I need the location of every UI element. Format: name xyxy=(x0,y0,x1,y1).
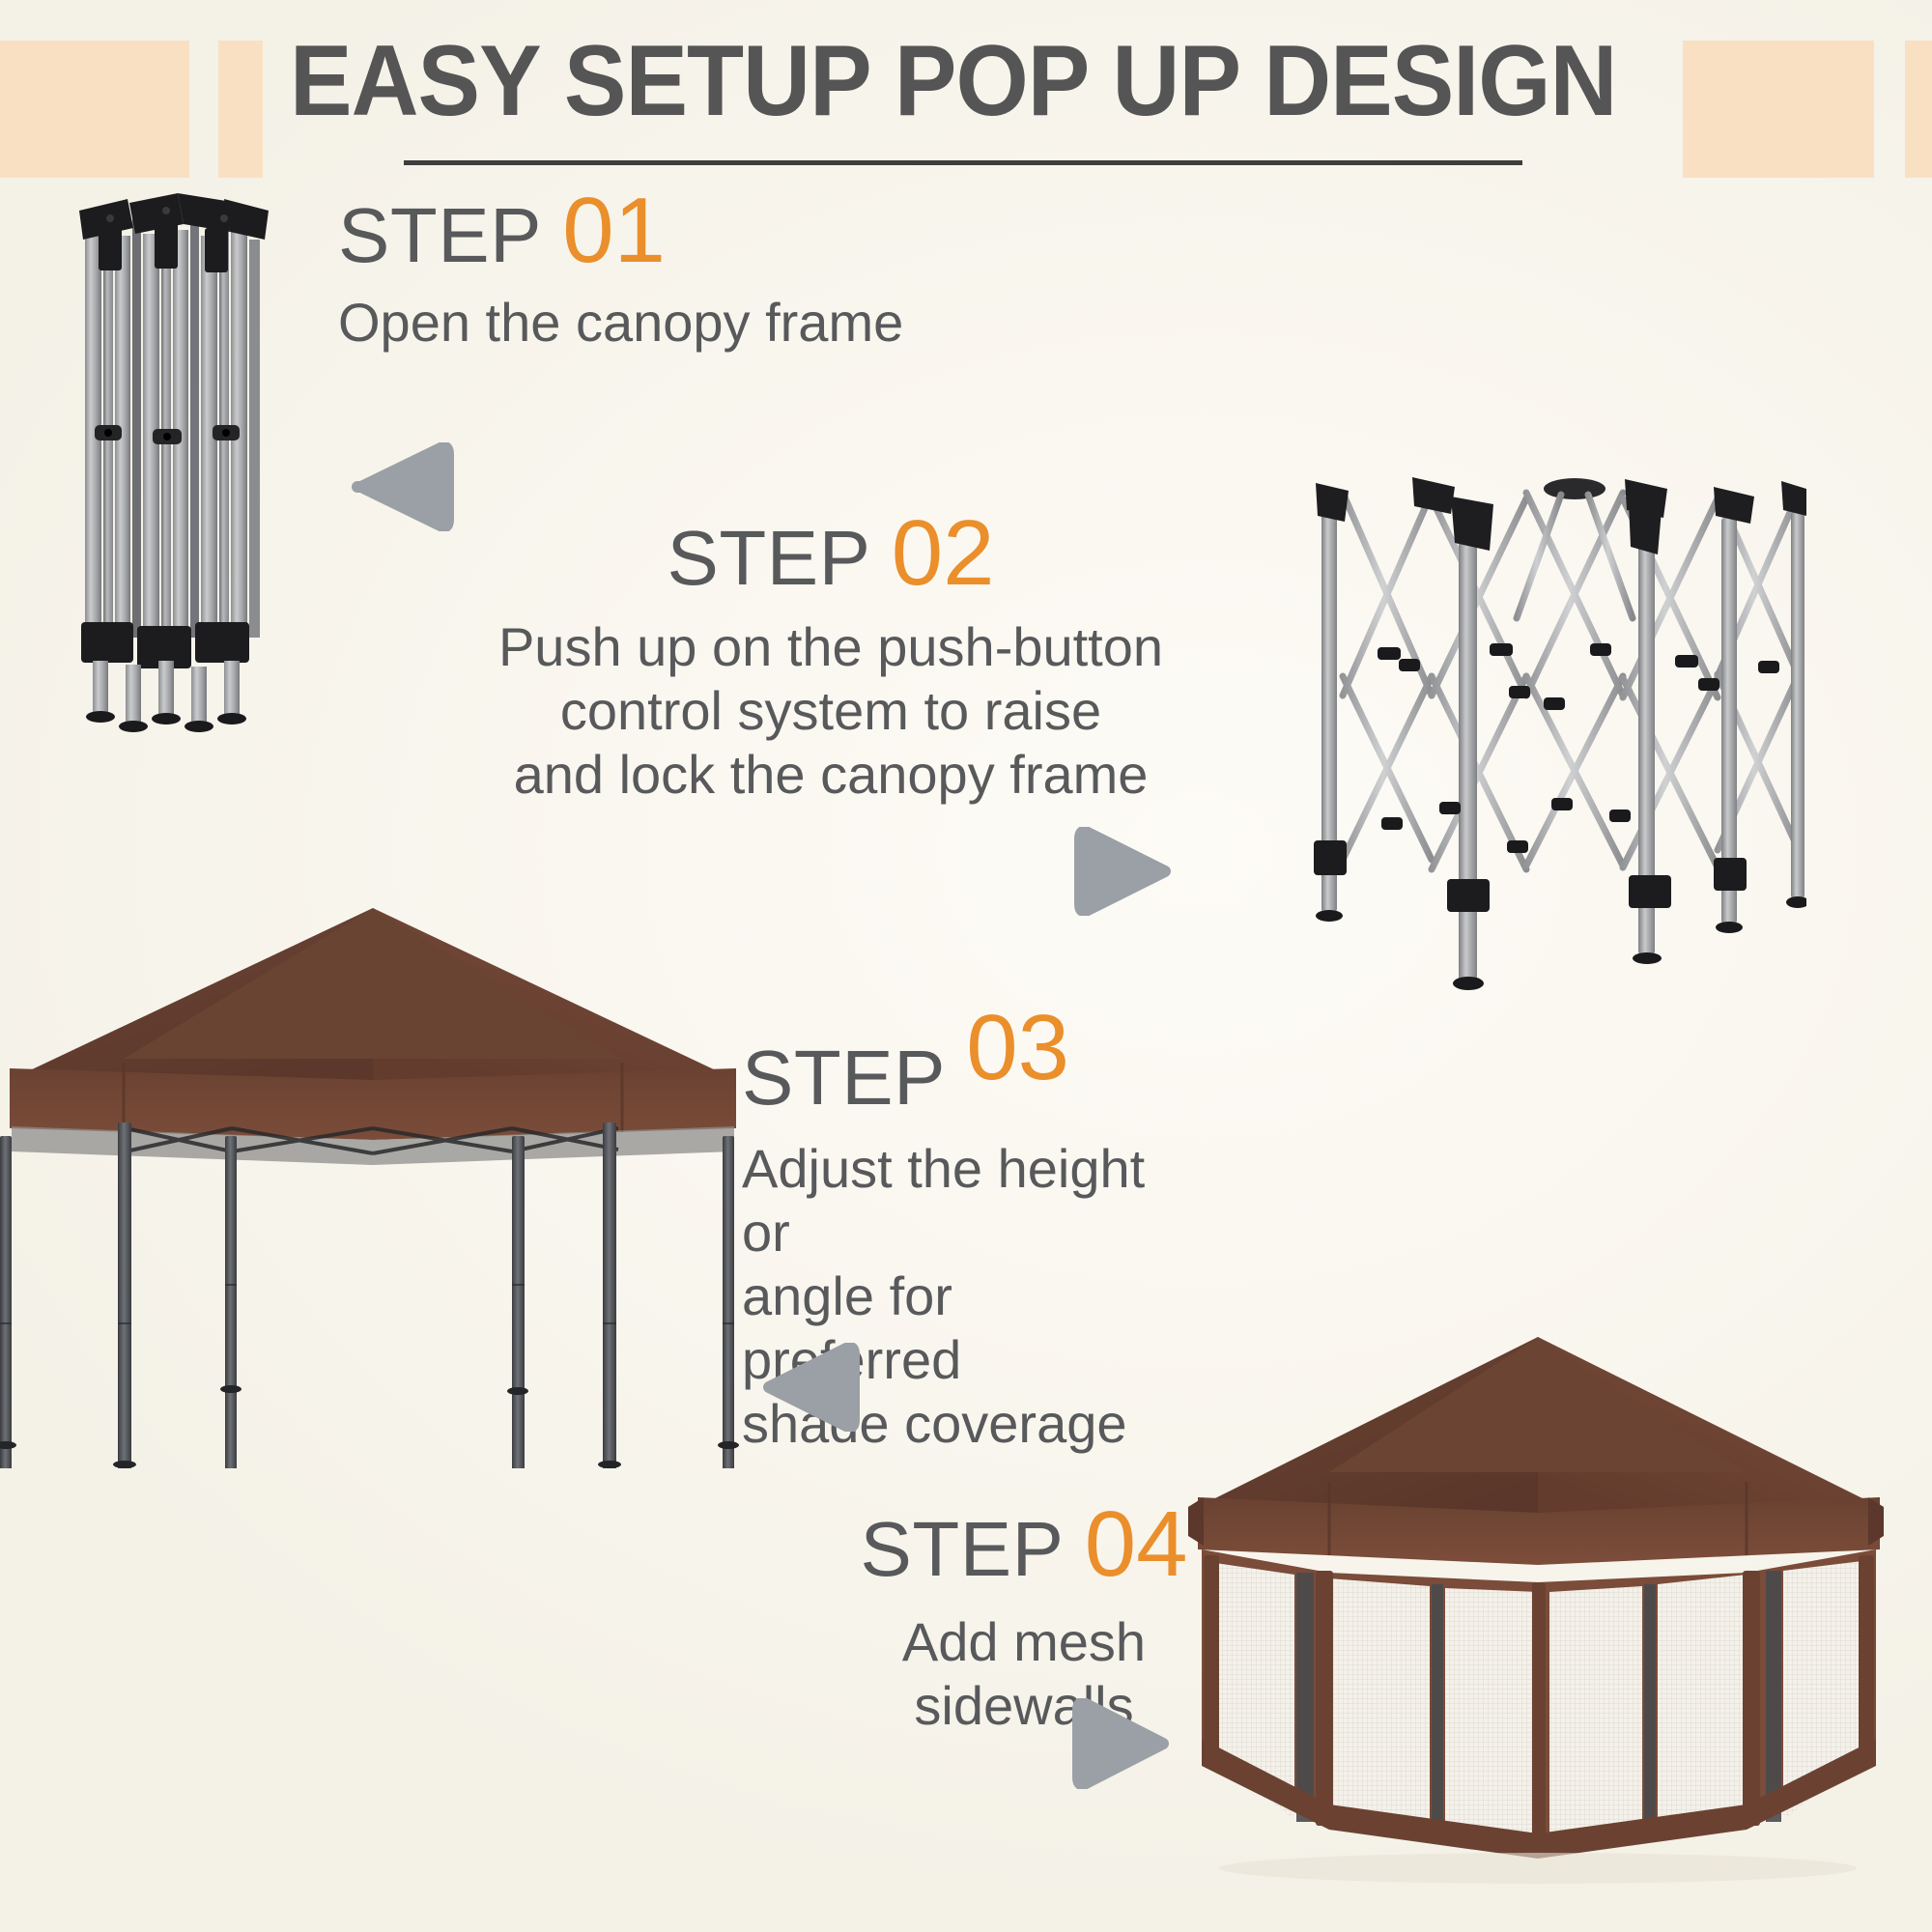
arrow-left-icon-step-01 xyxy=(348,442,454,531)
step-01-label: STEP xyxy=(338,192,541,278)
step-02-description-line-3: and lock the canopy frame xyxy=(483,743,1179,807)
arrow-right-icon-step-02 xyxy=(1074,827,1179,916)
header-deco-bar-right-thin xyxy=(1905,41,1932,178)
infographic-page: EASY SETUP POP UP DESIGN STEP 01 Open th… xyxy=(0,0,1932,1932)
arrow-left-icon-step-03 xyxy=(753,1343,860,1432)
step-02-block: STEP 02 Push up on the push-button contr… xyxy=(483,512,1179,807)
step-01-number: 01 xyxy=(562,179,666,282)
step-02-number: 02 xyxy=(892,501,995,605)
header-deco-bar-left-wide xyxy=(0,41,189,178)
title-underline-rule xyxy=(404,160,1522,165)
hexagonal-gazebo-with-mesh-sidewalls-image xyxy=(1140,1283,1932,1932)
step-04-label: STEP xyxy=(860,1506,1063,1592)
step-02-heading: STEP 02 xyxy=(483,512,1179,600)
step-02-description-line-2: control system to raise xyxy=(483,679,1179,743)
folded-canopy-frame-image xyxy=(70,182,278,734)
step-03-label: STEP xyxy=(742,1035,945,1121)
step-01-heading: STEP 01 xyxy=(338,189,995,277)
step-03-number: 03 xyxy=(966,996,1069,1099)
step-03-description-line-1: Adjust the height or xyxy=(742,1137,1186,1264)
brown-canopy-assembled-image xyxy=(0,869,753,1468)
step-02-description-line-1: Push up on the push-button xyxy=(483,615,1179,679)
page-title: EASY SETUP POP UP DESIGN xyxy=(290,27,1458,135)
step-02-label: STEP xyxy=(667,515,869,601)
step-01-description: Open the canopy frame xyxy=(338,291,995,355)
step-01-block: STEP 01 Open the canopy frame xyxy=(338,189,995,355)
header-deco-bar-left-thin xyxy=(218,41,263,178)
step-02-description: Push up on the push-button control syste… xyxy=(483,615,1179,807)
header-deco-bar-right-wide xyxy=(1683,41,1874,178)
expanded-canopy-frame-image xyxy=(1285,454,1806,995)
step-03-heading: STEP 03 xyxy=(742,1032,1186,1120)
